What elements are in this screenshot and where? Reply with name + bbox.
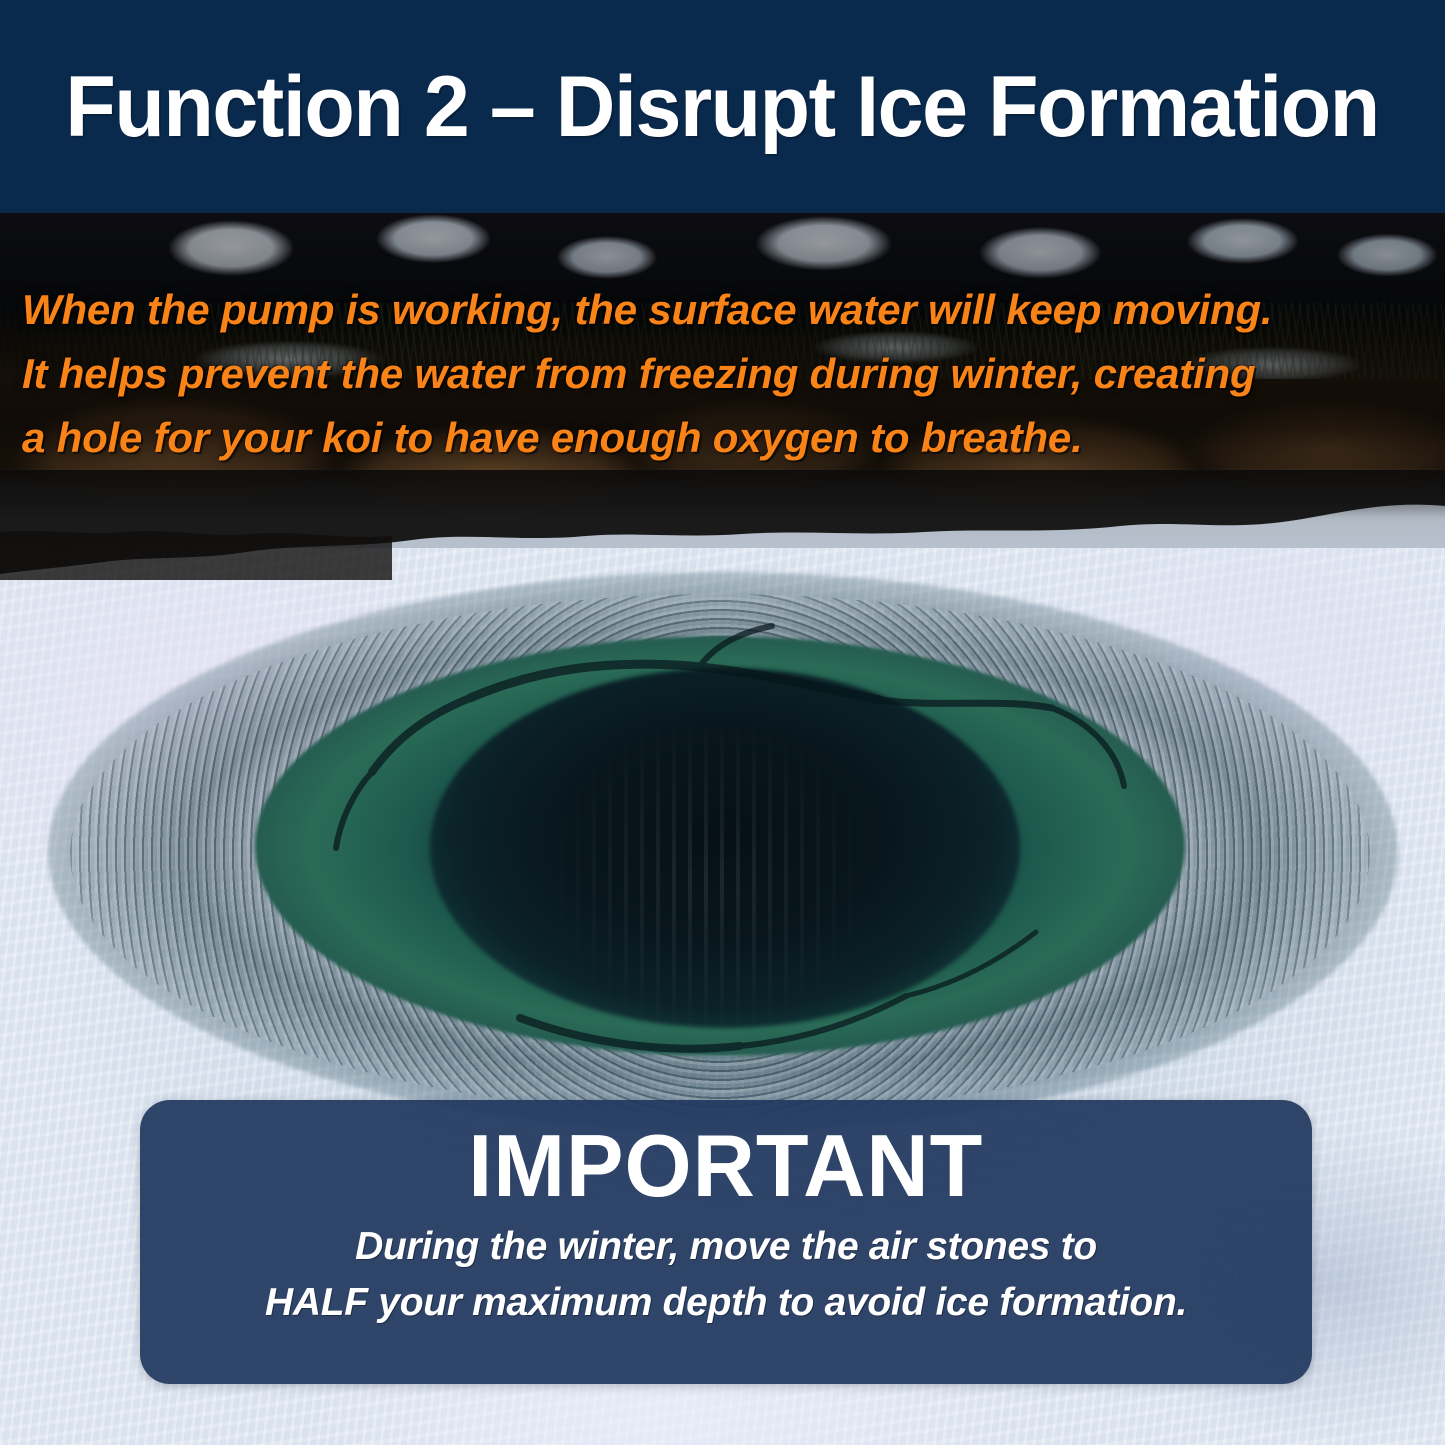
overlay-paragraph-line-2: It helps prevent the water from freezing… — [22, 342, 1423, 406]
overlay-paragraph-line-1: When the pump is working, the surface wa… — [22, 278, 1423, 342]
important-heading: IMPORTANT — [468, 1118, 983, 1213]
page-title: Function 2 – Disrupt Ice Formation — [66, 64, 1379, 150]
important-line-1: During the winter, move the air stones t… — [265, 1219, 1187, 1275]
header-banner: Function 2 – Disrupt Ice Formation — [0, 0, 1445, 213]
overlay-paragraph: When the pump is working, the surface wa… — [0, 278, 1445, 470]
important-callout-box: IMPORTANT During the winter, move the ai… — [140, 1100, 1312, 1384]
overlay-paragraph-line-3: a hole for your koi to have enough oxyge… — [22, 406, 1423, 470]
important-line-2: HALF your maximum depth to avoid ice for… — [265, 1275, 1187, 1331]
important-body: During the winter, move the air stones t… — [265, 1219, 1187, 1331]
ice-crack-lines — [0, 548, 1445, 1168]
infographic-page: Function 2 – Disrupt Ice Formation When … — [0, 0, 1445, 1445]
